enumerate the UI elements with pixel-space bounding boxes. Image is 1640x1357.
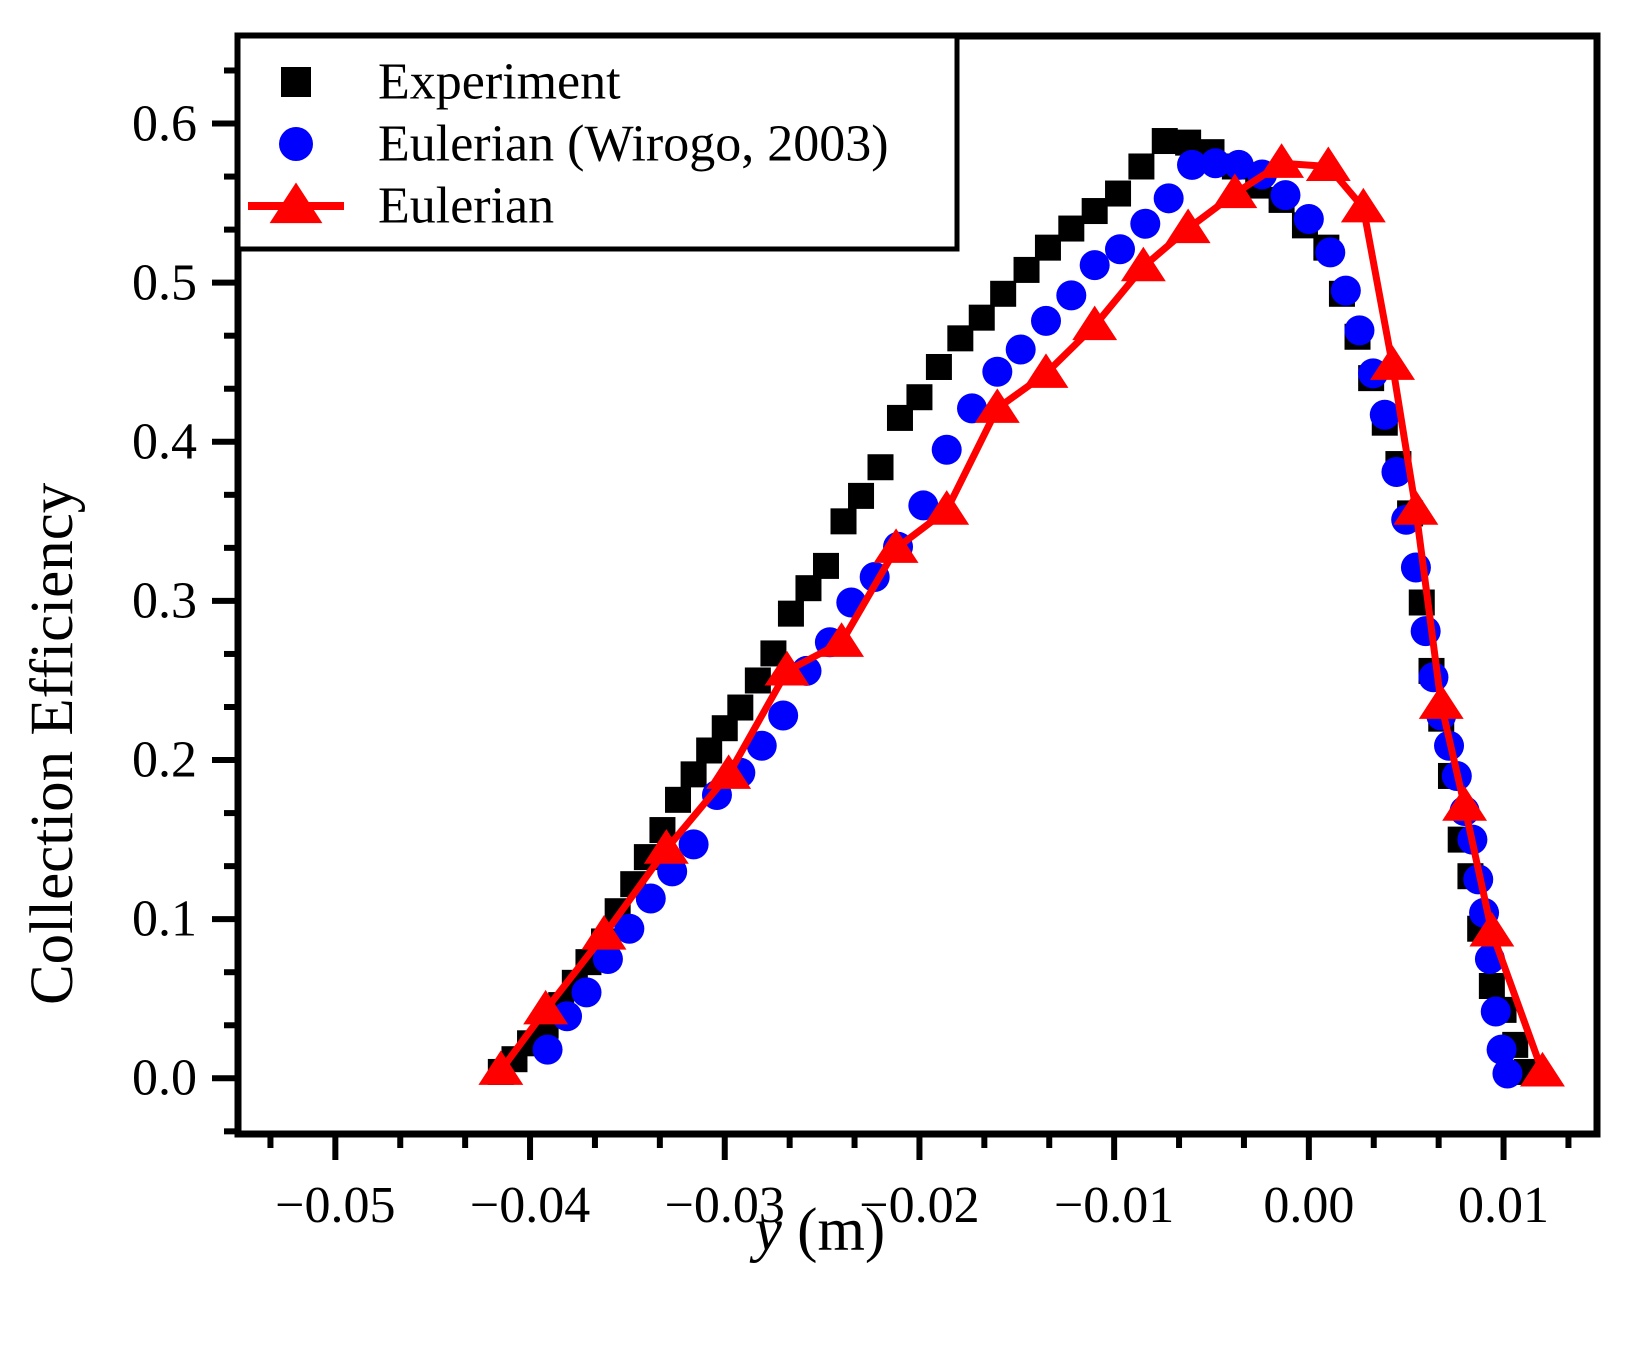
data-point-marker [906, 384, 932, 410]
x-tick-label: 0.01 [1458, 1176, 1549, 1235]
data-point-marker [696, 737, 722, 763]
data-point-marker [1492, 1059, 1522, 1089]
series-line [501, 163, 1543, 1072]
data-point-marker [1058, 216, 1084, 242]
data-point-marker [848, 483, 874, 509]
data-point-marker [1152, 128, 1178, 154]
data-point-marker [533, 1035, 563, 1065]
y-tick-label: 0.3 [40, 571, 197, 630]
data-point-marker [1082, 198, 1108, 224]
data-point-marker [1080, 250, 1110, 280]
data-point-marker [1344, 315, 1374, 345]
y-tick-label: 0.1 [40, 890, 197, 949]
data-point-marker [1014, 257, 1040, 283]
x-tick-label: −0.02 [859, 1176, 979, 1235]
x-tick-label: −0.03 [665, 1176, 785, 1235]
y-tick-label: 0.4 [40, 412, 197, 471]
data-point-marker [926, 354, 952, 380]
legend-entry-label[interactable]: Eulerian (Wirogo, 2003) [378, 115, 889, 174]
data-point-marker [990, 281, 1016, 307]
data-point-marker [1128, 153, 1154, 179]
legend-marker-circle [279, 127, 313, 161]
data-point-marker [778, 601, 804, 627]
data-point-marker [768, 700, 798, 730]
data-point-marker [1479, 973, 1505, 999]
data-point-marker [1130, 209, 1160, 239]
legend-entry-label[interactable]: Experiment [378, 53, 621, 112]
data-point-marker [1442, 786, 1487, 821]
data-point-marker [969, 305, 995, 331]
data-point-marker [1315, 237, 1345, 267]
x-tick-label: −0.05 [275, 1176, 395, 1235]
x-tick-label: −0.01 [1054, 1176, 1174, 1235]
data-point-marker [1270, 180, 1300, 210]
data-point-marker [1370, 400, 1400, 430]
data-point-marker [1331, 276, 1361, 306]
data-point-marker [1035, 235, 1061, 261]
x-tick-label: −0.04 [470, 1176, 590, 1235]
y-tick-label: 0.6 [40, 94, 197, 153]
data-point-marker [1031, 306, 1061, 336]
data-point-marker [982, 357, 1012, 387]
data-point-marker [868, 454, 894, 480]
data-point-marker [1056, 280, 1086, 310]
data-point-marker [665, 787, 691, 813]
data-point-marker [1154, 183, 1184, 213]
data-point-marker [727, 695, 753, 721]
legend-entry-label[interactable]: Eulerian [378, 177, 554, 236]
legend-marker-square [281, 67, 311, 97]
y-tick-label: 0.5 [40, 253, 197, 312]
data-point-marker [1294, 204, 1324, 234]
data-point-marker [813, 553, 839, 579]
data-point-marker [745, 667, 771, 693]
data-point-marker [932, 435, 962, 465]
data-point-marker [1481, 996, 1511, 1026]
data-point-marker [1105, 234, 1135, 264]
y-tick-label: 0.0 [40, 1049, 197, 1108]
series-eulerian [478, 143, 1565, 1086]
data-point-marker [1105, 181, 1131, 207]
x-axis-title: y (m) [0, 1196, 1640, 1266]
data-point-marker [681, 761, 707, 787]
series-eulerian-wirogo [533, 148, 1523, 1088]
series-experiment [488, 128, 1540, 1085]
data-point-marker [1006, 334, 1036, 364]
y-tick-label: 0.2 [40, 731, 197, 790]
chart-figure: Collection Efficiency y (m) 0.00.10.20.3… [0, 0, 1640, 1357]
data-point-marker [795, 575, 821, 601]
plot-canvas [0, 0, 1640, 1357]
data-point-marker [831, 508, 857, 534]
data-point-marker [572, 977, 602, 1007]
x-tick-label: 0.00 [1263, 1176, 1354, 1235]
